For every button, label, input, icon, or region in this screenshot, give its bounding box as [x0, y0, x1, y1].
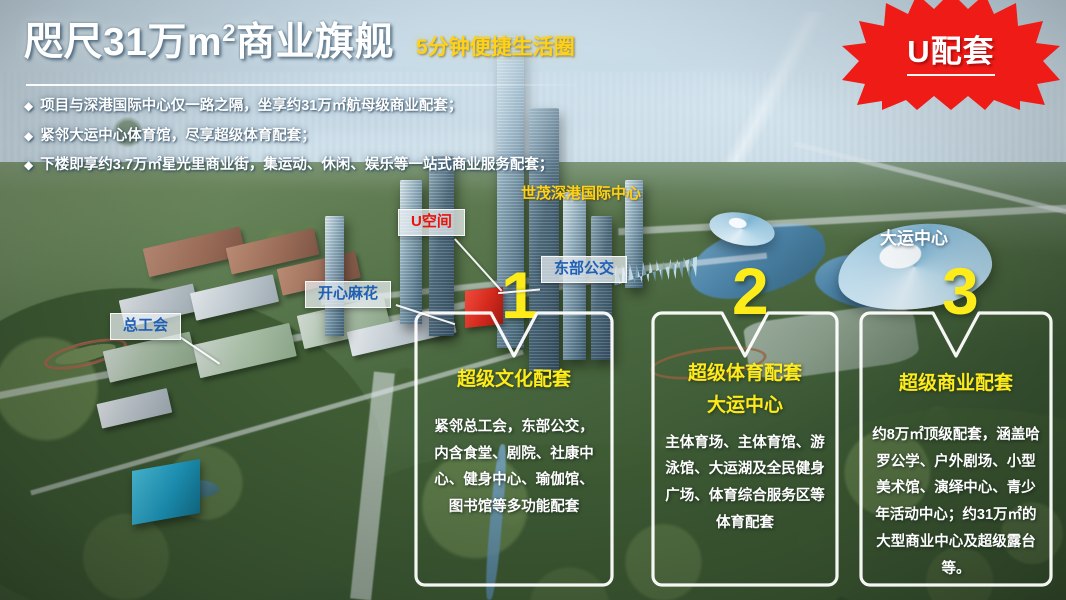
panel-heading: 超级商业配套 [899, 372, 1013, 396]
page-title-pre: 咫尺31万 [24, 21, 187, 64]
page-subtitle: 5分钟便捷生活圈 [416, 37, 575, 62]
poster-canvas: 咫尺31万m2商业旗舰 5分钟便捷生活圈 ◆ 项目与深港国际中心仅一路之隔，坐享… [0, 0, 1066, 600]
bullet-text: 项目与深港国际中心仅一路之隔，坐享约31万㎡航母级商业配套； [40, 99, 462, 114]
title-row: 咫尺31万m2商业旗舰 5分钟便捷生活圈 [24, 22, 575, 62]
map-label-shimao-center: 世茂深港国际中心 [521, 186, 641, 201]
map-label-labour-union[interactable]: 总工会 [110, 313, 181, 340]
info-panel-1[interactable]: 1 超级文化配套 紧邻总工会，东部公交，内含食堂、剧院、社康中心、健身中心、瑜伽… [413, 310, 615, 588]
page-title-unit: m [187, 21, 222, 64]
panel-body: 主体育场、主体育馆、游泳馆、大运湖及全民健身广场、体育综合服务区等体育配套 [661, 430, 828, 537]
map-label-universiade: 大运中心 [880, 230, 948, 247]
info-panel-3[interactable]: 3 超级商业配套 约8万㎡顶级配套，涵盖哈罗公学、户外剧场、小型美术馆、演绎中心… [858, 310, 1054, 588]
map-label-east-bus[interactable]: 东部公交 [541, 256, 627, 283]
panel-subheading: 大运中心 [707, 394, 783, 418]
bullet-item: ◆ 下楼即享约3.7万㎡星光里商业街，集运动、休闲、娱乐等一站式商业服务配套； [24, 158, 553, 173]
bullet-item: ◆ 紧邻大运中心体育馆，尽享超级体育配套； [24, 129, 553, 144]
diamond-bullet-icon: ◆ [24, 159, 33, 171]
panel-heading: 超级文化配套 [457, 368, 571, 392]
panel-content-3: 超级商业配套 约8万㎡顶级配套，涵盖哈罗公学、户外剧场、小型美术馆、演绎中心、青… [872, 310, 1041, 574]
map-label-u-space[interactable]: U空间 [398, 209, 465, 236]
panel-body: 约8万㎡顶级配套，涵盖哈罗公学、户外剧场、小型美术馆、演绎中心、青少年活动中心；… [872, 422, 1041, 583]
panel-content-1: 超级文化配套 紧邻总工会，东部公交，内含食堂、剧院、社康中心、健身中心、瑜伽馆、… [433, 310, 595, 574]
header-divider [26, 84, 586, 86]
panel-content-2: 超级体育配套 大运中心 主体育场、主体育馆、游泳馆、大运湖及全民健身广场、体育综… [661, 310, 828, 574]
bullet-list: ◆ 项目与深港国际中心仅一路之隔，坐享约31万㎡航母级商业配套； ◆ 紧邻大运中… [24, 99, 553, 188]
diamond-bullet-icon: ◆ [24, 130, 33, 142]
bullet-text: 下楼即享约3.7万㎡星光里商业街，集运动、休闲、娱乐等一站式商业服务配套； [40, 158, 553, 173]
map-label-kaixin-mahua[interactable]: 开心麻花 [305, 281, 391, 308]
info-panel-2[interactable]: 2 超级体育配套 大运中心 主体育场、主体育馆、游泳馆、大运湖及全民健身广场、体… [650, 310, 840, 588]
page-title-post: 商业旗舰 [236, 21, 394, 64]
starburst-label: U配套 [907, 26, 994, 76]
page-title: 咫尺31万m2商业旗舰 [24, 22, 394, 62]
panel-heading: 超级体育配套 [688, 362, 802, 386]
panel-body: 紧邻总工会，东部公交，内含食堂、剧院、社康中心、健身中心、瑜伽馆、图书馆等多功能… [433, 414, 595, 521]
starburst-badge: U配套 [842, 0, 1060, 110]
page-title-unit-superscript: 2 [222, 20, 236, 47]
bullet-item: ◆ 项目与深港国际中心仅一路之隔，坐享约31万㎡航母级商业配套； [24, 99, 553, 114]
bullet-text: 紧邻大运中心体育馆，尽享超级体育配套； [40, 129, 316, 144]
diamond-bullet-icon: ◆ [24, 100, 33, 112]
